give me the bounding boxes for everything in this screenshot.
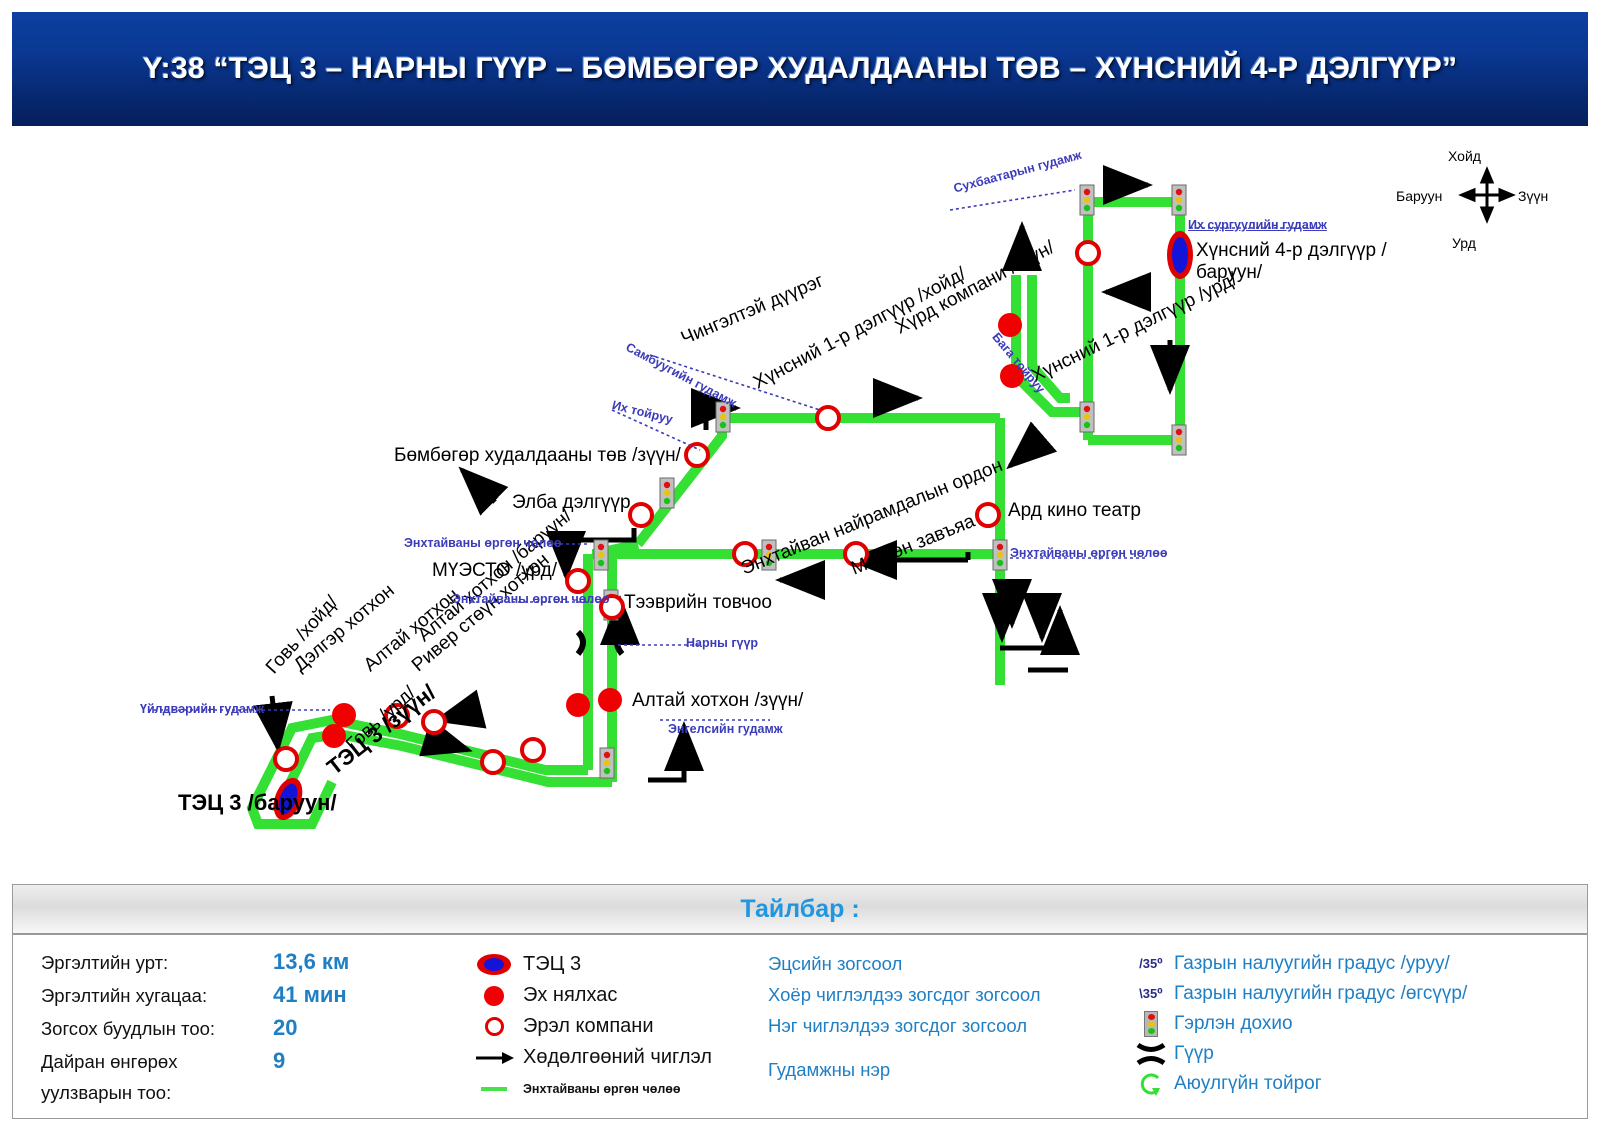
legend-symbol-label: Гүүр	[1174, 1043, 1214, 1065]
legend-symbol-row: Гүүр	[1128, 1039, 1578, 1069]
legend-symbol-label: Аюулгүйн тойрог	[1174, 1073, 1322, 1095]
legend-key-label: Эх нялхас	[523, 984, 617, 1007]
green-line-icon	[465, 1087, 523, 1091]
route-map: Хүнсний 4-р дэлгүүр /баруун/ Хүрд компан…	[0, 140, 1600, 870]
legend-key-row: Энхтайваны өргөн чөлөө	[465, 1073, 745, 1104]
stop-type-row: Хоёр чиглэлдээ зогсдог зогсоол	[768, 984, 1128, 1006]
stat-value: 20	[273, 1015, 297, 1041]
street-label-narny-guur: Нарны гүүр	[686, 636, 758, 650]
compass-west-label: Баруун	[1396, 188, 1442, 204]
slope-up-icon: \35⁰	[1128, 986, 1174, 1002]
legend-key-row: ТЭЦ 3	[465, 949, 745, 980]
route-title-banner: Y:38 “ТЭЦ 3 – НАРНЫ ГҮҮР – БӨМБӨГӨР ХУДА…	[10, 10, 1590, 128]
legend-stats-column: Эргэлтийн урт: 13,6 км Эргэлтийн хугацаа…	[41, 949, 441, 1105]
legend-title: Тайлбар :	[740, 895, 859, 924]
stat-label-second-line: уулзварын тоо:	[41, 1081, 441, 1105]
street-label-enkhtaivan-2: Энхтайваны өргөн чөлөө	[452, 592, 610, 606]
legend-key-row: Хөдөлгөөний чиглэл	[465, 1042, 745, 1073]
legend-symbol-row: /35⁰ Газрын налуугийн градус /уруу/	[1128, 949, 1578, 979]
stop-type-row: Нэг чиглэлдээ зогсдог зогсоол	[768, 1015, 1128, 1037]
stat-row: Эргэлтийн хугацаа: 41 мин	[41, 982, 441, 1008]
street-label-engelsiin: Энгелсийн гудамж	[668, 722, 783, 736]
stop-label-elba: Элба дэлгүүр	[512, 492, 631, 514]
legend-key-label: ТЭЦ 3	[523, 953, 581, 976]
legend-symbol-row: Аюулгүйн тойрог	[1128, 1069, 1578, 1099]
roundabout-icon	[1128, 1070, 1174, 1098]
filled-red-dot-icon	[465, 986, 523, 1006]
legend-key-label: Хөдөлгөөний чиглэл	[523, 1046, 712, 1069]
stop-label-tec3-baruun: ТЭЦ 3 /баруун/	[178, 790, 337, 816]
stop-type-row: Эцсийн зогсоол	[768, 953, 1128, 975]
stop-label-ard-kino: Ард кино театр	[1008, 500, 1141, 522]
stat-label: Зогсох буудлын тоо:	[41, 1017, 273, 1041]
traffic-light-icon	[1128, 1011, 1174, 1037]
compass-south-label: Урд	[1452, 235, 1476, 251]
compass-north-label: Хойд	[1448, 148, 1481, 164]
legend-body: Эргэлтийн урт: 13,6 км Эргэлтийн хугацаа…	[13, 935, 1587, 1120]
legend-key-label: Эрэл компани	[523, 1015, 654, 1038]
legend-symbol-label: Гэрлэн дохио	[1174, 1013, 1293, 1035]
stat-value: 9	[273, 1048, 285, 1074]
stop-type-row: Гудамжны нэр	[768, 1059, 1128, 1081]
open-red-circle-icon	[465, 1017, 523, 1036]
street-label-enkhtaivan-3: Энхтайваны өргөн чөлөө	[1010, 546, 1168, 560]
stat-row: Зогсох буудлын тоо: 20	[41, 1015, 441, 1041]
stat-label: Дайран өнгөрөх	[41, 1050, 273, 1074]
stat-row: Дайран өнгөрөх 9	[41, 1048, 441, 1074]
stat-label: Эргэлтийн урт:	[41, 951, 273, 975]
stat-label: Эргэлтийн хугацаа:	[41, 984, 273, 1008]
slope-down-icon: /35⁰	[1128, 956, 1174, 972]
legend-header: Тайлбар :	[13, 885, 1587, 935]
stop-label-teevriin-tovchoo: Тээврийн товчоо	[624, 592, 772, 614]
street-label-uildveriin: Үйлдвэрийн гудамж	[140, 702, 264, 716]
stop-label-bombogor: Бөмбөгөр худалдааны төв /зүүн/	[394, 445, 681, 467]
terminal-marker-icon	[465, 954, 523, 975]
legend-symbol-label: Газрын налуугийн градус /өгсүүр/	[1174, 983, 1467, 1005]
stop-label-altai-hotkhon-zuun: Алтай хотхон /зүүн/	[632, 690, 803, 712]
page-title: Y:38 “ТЭЦ 3 – НАРНЫ ГҮҮР – БӨМБӨГӨР ХУДА…	[143, 52, 1458, 86]
bridge-icon	[1128, 1041, 1174, 1067]
legend-symbol-label: Газрын налуугийн градус /уруу/	[1174, 953, 1450, 975]
legend-symbol-row: Гэрлэн дохио	[1128, 1009, 1578, 1039]
legend-panel: Тайлбар : Эргэлтийн урт: 13,6 км Эргэлти…	[12, 884, 1588, 1119]
legend-symbol-row: \35⁰ Газрын налуугийн градус /өгсүүр/	[1128, 979, 1578, 1009]
stat-value: 41 мин	[273, 982, 347, 1008]
stat-row: Эргэлтийн урт: 13,6 км	[41, 949, 441, 975]
compass-east-label: Зүүн	[1518, 188, 1548, 204]
legend-key-row: Эх нялхас	[465, 980, 745, 1011]
legend-stoptypes-column: Эцсийн зогсоол Хоёр чиглэлдээ зогсдог зо…	[768, 953, 1128, 1090]
legend-symbols-column: /35⁰ Газрын налуугийн градус /уруу/ \35⁰…	[1128, 949, 1578, 1099]
legend-keys-column: ТЭЦ 3 Эх нялхас Эрэл компани Хөдөлгөөний…	[465, 949, 745, 1104]
street-label-enkhtaivan-1: Энхтайваны өргөн чөлөө	[404, 536, 562, 550]
legend-key-row: Эрэл компани	[465, 1011, 745, 1042]
stat-value: 13,6 км	[273, 949, 349, 975]
legend-key-label: Энхтайваны өргөн чөлөө	[523, 1082, 681, 1096]
black-arrow-icon	[465, 1050, 523, 1066]
street-label-ikh-surguuliin: Их сургуулийн гудамж	[1188, 218, 1327, 232]
